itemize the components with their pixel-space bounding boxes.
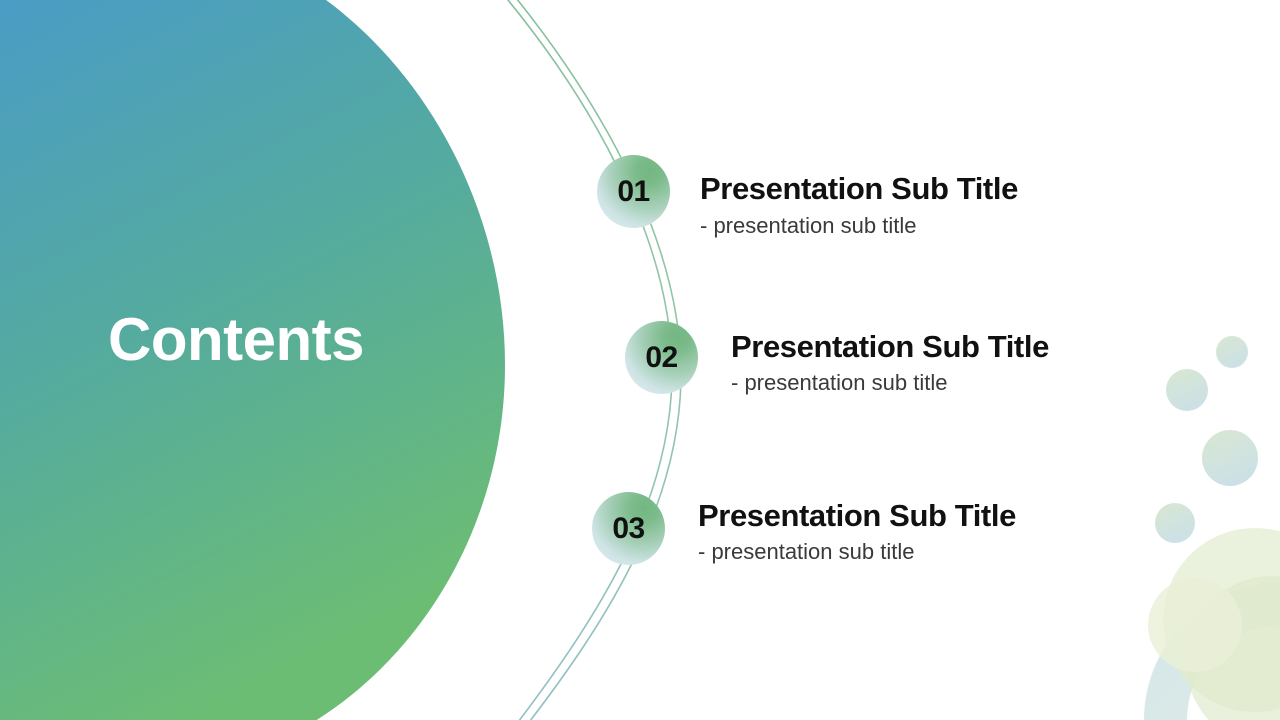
number-badge-label: 01 — [617, 177, 649, 207]
number-badge-03[interactable]: 03 — [592, 492, 665, 565]
item-subtitle: - presentation sub title — [700, 214, 916, 238]
item-heading: Presentation Sub Title — [698, 499, 1016, 533]
number-badge-02[interactable]: 02 — [625, 321, 698, 394]
contents-list: 01 Presentation Sub Title - presentation… — [0, 0, 1280, 720]
item-heading: Presentation Sub Title — [731, 330, 1049, 364]
number-badge-label: 03 — [612, 514, 644, 544]
item-heading: Presentation Sub Title — [700, 172, 1018, 206]
item-subtitle: - presentation sub title — [698, 540, 914, 564]
item-subtitle: - presentation sub title — [731, 371, 947, 395]
number-badge-01[interactable]: 01 — [597, 155, 670, 228]
number-badge-label: 02 — [645, 343, 677, 373]
presentation-slide: Contents 01 Presentation Sub Title - pre… — [0, 0, 1280, 720]
